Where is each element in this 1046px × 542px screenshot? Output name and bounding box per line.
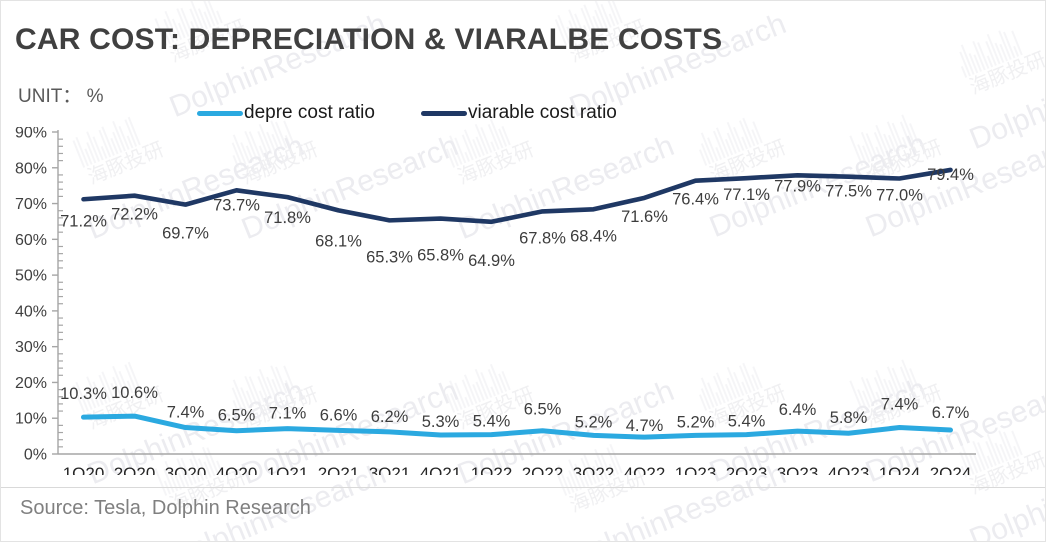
- y-axis-label: 0%: [24, 447, 47, 464]
- data-point-label: 5.3%: [422, 413, 460, 431]
- data-point-label: 5.8%: [830, 409, 868, 427]
- data-point-label: 10.3%: [60, 385, 107, 403]
- line-chart-svg: 0%10%20%30%40%50%60%70%80%90%1Q202Q203Q2…: [1, 127, 1046, 475]
- x-axis-label: 4Q22: [624, 464, 666, 475]
- x-axis-label: 3Q22: [573, 464, 615, 475]
- x-axis-label: 3Q21: [369, 464, 411, 475]
- data-point-label: 5.4%: [728, 413, 766, 431]
- data-point-label: 76.4%: [672, 191, 719, 209]
- data-point-label: 71.6%: [621, 208, 668, 226]
- x-axis-label: 3Q20: [165, 464, 207, 475]
- data-point-label: 5.2%: [575, 413, 613, 431]
- watermark-text-cn: 海豚投研: [964, 43, 1046, 100]
- legend-item-depre[interactable]: depre cost ratio: [197, 102, 375, 124]
- unit-label: UNIT： %: [18, 81, 104, 108]
- y-axis-label: 40%: [15, 303, 47, 320]
- data-point-label: 73.7%: [213, 196, 260, 214]
- x-axis-label: 4Q21: [420, 464, 462, 475]
- data-point-label: 67.8%: [519, 229, 566, 247]
- data-point-label: 7.1%: [269, 405, 307, 423]
- data-point-label: 68.4%: [570, 227, 617, 245]
- x-axis-label: 2Q21: [318, 464, 360, 475]
- y-axis-label: 60%: [15, 232, 47, 249]
- data-point-label: 65.3%: [366, 248, 413, 266]
- data-point-label: 10.6%: [111, 384, 158, 402]
- data-point-label: 77.9%: [774, 177, 821, 195]
- y-axis-label: 70%: [15, 196, 47, 213]
- data-point-label: 7.4%: [881, 396, 919, 414]
- x-axis-label: 1Q24: [879, 464, 921, 475]
- chart-page: 海豚投研DolphinResearch海豚投研DolphinResearch海豚…: [0, 0, 1046, 542]
- data-point-label: 4.7%: [626, 417, 664, 435]
- data-point-label: 71.8%: [264, 209, 311, 227]
- x-axis-label: 3Q23: [777, 464, 819, 475]
- x-axis-label: 2Q22: [522, 464, 564, 475]
- legend-swatch-depre: [197, 111, 243, 116]
- x-axis-label: 1Q22: [471, 464, 513, 475]
- x-axis-label: 1Q20: [63, 464, 105, 475]
- data-point-label: 69.7%: [162, 225, 209, 243]
- y-axis-label: 20%: [15, 375, 47, 392]
- x-axis-label: 1Q23: [675, 464, 717, 475]
- legend-item-viarable[interactable]: viarable cost ratio: [421, 102, 617, 124]
- data-point-label: 6.2%: [371, 408, 409, 426]
- data-point-label: 6.4%: [779, 401, 817, 419]
- chart-legend: depre cost ratio viarable cost ratio: [197, 102, 617, 124]
- data-point-label: 77.1%: [723, 186, 770, 204]
- x-axis-label: 2Q20: [114, 464, 156, 475]
- data-point-label: 5.4%: [473, 413, 511, 431]
- y-axis-label: 80%: [15, 160, 47, 177]
- legend-label-depre: depre cost ratio: [244, 102, 375, 124]
- x-axis-label: 2Q24: [930, 464, 972, 475]
- data-point-label: 72.2%: [111, 206, 158, 224]
- x-axis-label: 4Q20: [216, 464, 258, 475]
- y-axis-label: 90%: [15, 127, 47, 142]
- y-axis-label: 10%: [15, 411, 47, 428]
- x-axis-label: 1Q21: [267, 464, 309, 475]
- source-note: Source: Tesla, Dolphin Research: [20, 497, 311, 520]
- data-point-label: 68.1%: [315, 232, 362, 250]
- footer-divider: [1, 487, 1046, 488]
- data-point-label: 71.2%: [60, 212, 107, 230]
- x-axis-label: 2Q23: [726, 464, 768, 475]
- data-point-label: 77.0%: [876, 187, 923, 205]
- data-point-label: 5.2%: [677, 413, 715, 431]
- legend-swatch-viarable: [421, 111, 467, 116]
- legend-label-viarable: viarable cost ratio: [468, 102, 617, 124]
- y-axis-label: 50%: [15, 268, 47, 285]
- data-point-label: 6.5%: [524, 401, 562, 419]
- data-point-label: 6.5%: [218, 407, 256, 425]
- series-line-depre: [84, 416, 951, 437]
- data-point-label: 77.5%: [825, 183, 872, 201]
- chart-plot-area: 0%10%20%30%40%50%60%70%80%90%1Q202Q203Q2…: [1, 127, 1046, 475]
- data-point-label: 65.8%: [417, 247, 464, 265]
- data-point-label: 64.9%: [468, 252, 515, 270]
- x-axis-label: 4Q23: [828, 464, 870, 475]
- data-point-label: 6.6%: [320, 406, 358, 424]
- data-point-label: 7.4%: [167, 404, 205, 422]
- page-title: CAR COST: DEPRECIATION & VIARALBE COSTS: [15, 23, 722, 57]
- data-point-label: 79.4%: [927, 166, 974, 184]
- data-point-label: 6.7%: [932, 404, 970, 422]
- y-axis-label: 30%: [15, 339, 47, 356]
- watermark-bars: [953, 24, 1024, 78]
